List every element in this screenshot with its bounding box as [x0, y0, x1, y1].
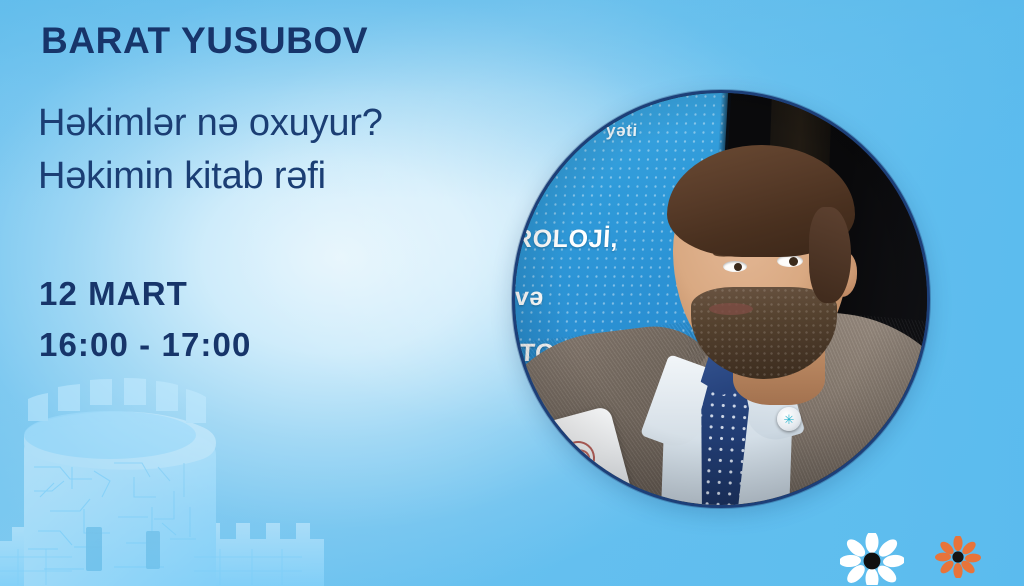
white-daisy-icon: [840, 533, 904, 585]
speaker-head: [673, 155, 849, 371]
orange-daisy-icon: [935, 536, 981, 578]
event-date: 12 MART: [39, 272, 251, 316]
portrait-photo: yəti ROLOJİ, və TOLOJİ ✳: [515, 93, 927, 505]
event-poster: BARAT YUSUBOV Həkimlər nə oxuyur? Həkimi…: [0, 0, 1024, 586]
lapel-pin-icon: ✳: [777, 407, 801, 431]
page-title: BARAT YUSUBOV: [41, 22, 368, 61]
banner-text-2: ROLOJİ,: [513, 225, 619, 254]
mouth: [709, 303, 753, 315]
event-subtitle: Həkimlər nə oxuyur? Həkimin kitab rəfi: [38, 98, 383, 203]
hair-side: [809, 207, 851, 303]
event-subtitle-line-2: Həkimin kitab rəfi: [38, 151, 383, 202]
event-datetime: 12 MART 16:00 - 17:00: [39, 272, 251, 366]
microphone-icon: medical media: [521, 411, 625, 508]
castle-tower-icon: [0, 371, 324, 586]
eye-left: [723, 261, 747, 272]
event-subtitle-line-1: Həkimlər nə oxuyur?: [38, 98, 383, 149]
banner-text-1: yəti: [605, 121, 638, 141]
speaker-portrait: yəti ROLOJİ, və TOLOJİ ✳: [512, 90, 930, 508]
event-time: 16:00 - 17:00: [39, 323, 251, 367]
